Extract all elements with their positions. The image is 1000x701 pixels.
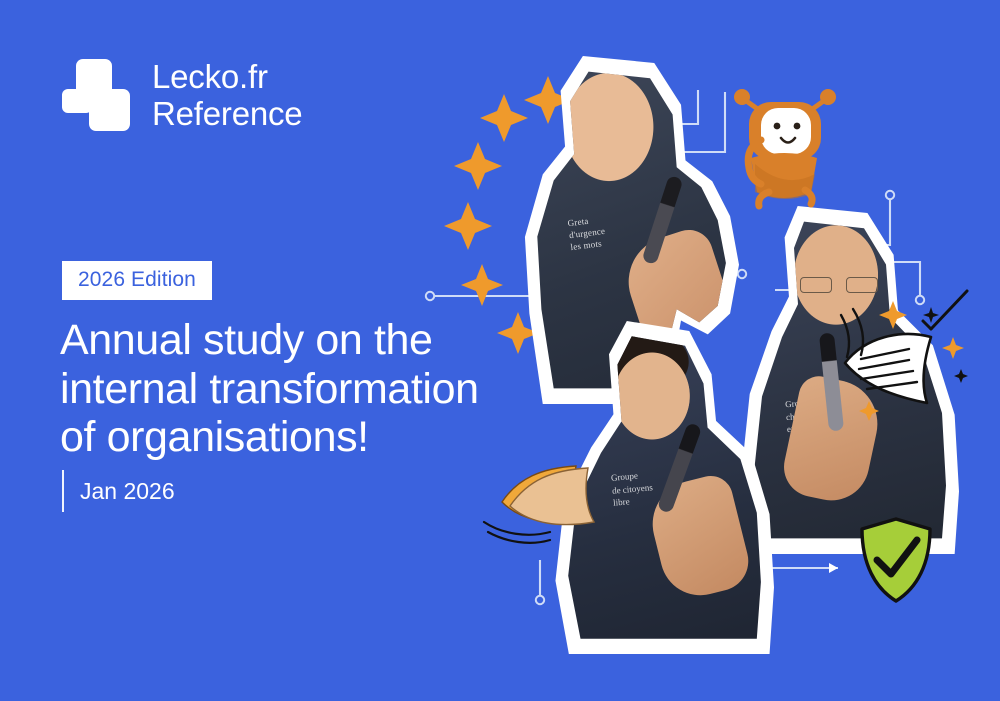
arm xyxy=(643,471,754,603)
robot-mascot-icon xyxy=(725,78,845,203)
logo-square-bottom xyxy=(89,89,130,131)
flying-paper-icon xyxy=(480,440,615,550)
logo-square-left xyxy=(62,89,92,113)
edition-badge: 2026 Edition xyxy=(62,261,212,300)
brand-name: Lecko.fr Reference xyxy=(152,58,302,133)
dateline-rule xyxy=(62,470,64,512)
shield-check-icon xyxy=(857,516,935,604)
two-squares-logo-icon xyxy=(62,59,134,131)
shirt-text: Greta d'urgence les mots xyxy=(567,213,607,254)
shirt-text: Groupe de citoyens libre xyxy=(610,468,654,509)
magic-wand-document-icon xyxy=(835,285,985,415)
cover-slide: Lecko.fr Reference 2026 Edition Annual s… xyxy=(0,0,1000,701)
publication-date: Jan 2026 xyxy=(80,478,175,505)
brand-lockup: Lecko.fr Reference xyxy=(62,58,302,133)
hero-artwork: Greta d'urgence les mots Groupe chanteur… xyxy=(420,0,1000,701)
dateline: Jan 2026 xyxy=(62,470,175,512)
